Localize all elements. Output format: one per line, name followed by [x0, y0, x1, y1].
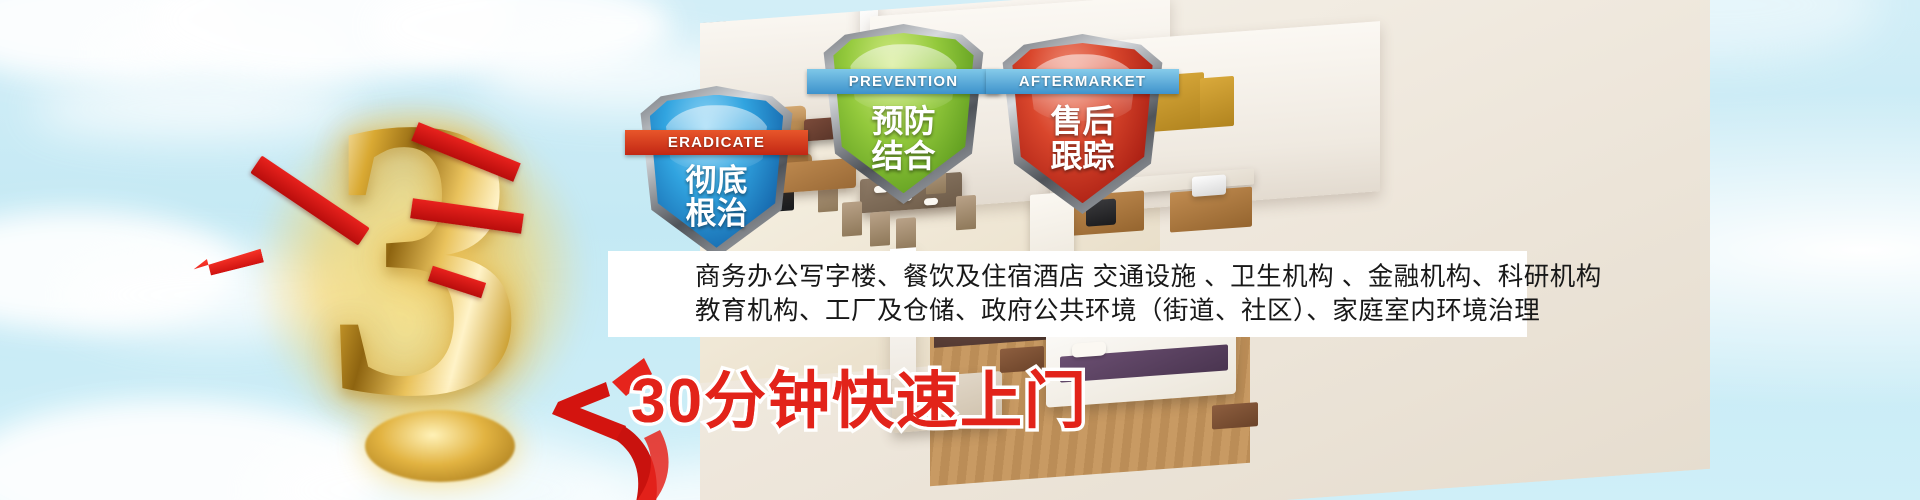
shield-chinese-top: 售后: [1001, 104, 1164, 139]
service-scope-card: 商务办公写字楼、餐饮及住宿酒店 交通设施 、卫生机构 、金融机构、科研机构 教育…: [608, 251, 1527, 337]
headline-text: 30分钟快速上门: [631, 350, 1088, 440]
shield-prevention: PREVENTION 预防 结合: [822, 24, 985, 204]
shield-aftermarket: AFTERMARKET 售后 跟踪: [1001, 34, 1164, 214]
shield-banner-label: AFTERMARKET: [986, 69, 1178, 94]
service-scope-line-1: 商务办公写字楼、餐饮及住宿酒店 交通设施 、卫生机构 、金融机构、科研机构: [695, 260, 1527, 294]
shield-chinese-top: 彻底: [639, 164, 794, 197]
three-base-sphere: [365, 410, 515, 482]
service-scope-line-2: 教育机构、工厂及仓储、政府公共环境（街道、社区）、家庭室内环境治理: [695, 294, 1527, 328]
shield-banner-label: PREVENTION: [807, 69, 999, 94]
shield-chinese-bottom: 根治: [639, 197, 794, 230]
shield-chinese-bottom: 结合: [822, 139, 985, 174]
shield-chinese-label: 预防 结合: [822, 104, 985, 173]
shield-chinese-bottom: 跟踪: [1001, 139, 1164, 174]
shield-chinese-top: 预防: [822, 104, 985, 139]
shield-chinese-label: 彻底 根治: [639, 164, 794, 231]
shield-banner-label: ERADICATE: [625, 130, 808, 155]
promo-banner: 3 ERADICATE 彻底 根治 PREVENTION 预防: [0, 0, 1920, 500]
shield-chinese-label: 售后 跟踪: [1001, 104, 1164, 173]
shield-eradicate: ERADICATE 彻底 根治: [639, 86, 794, 258]
